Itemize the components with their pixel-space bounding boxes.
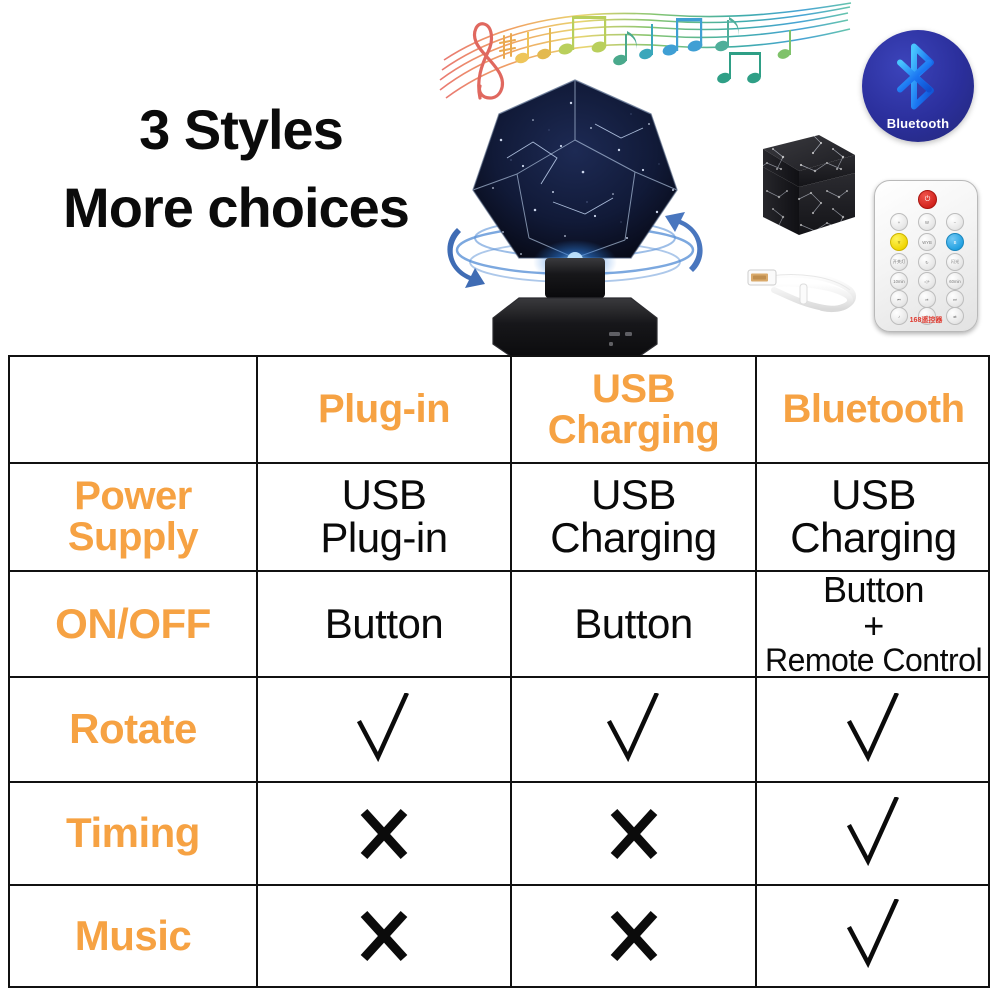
remote-button-timer-60[interactable]: 60min [946,272,964,290]
check-icon [846,797,902,871]
remote-button-w[interactable]: W [918,213,936,231]
cross-icon [606,908,662,964]
bluetooth-icon [890,43,946,116]
cell-power-usb-line2: Charging [550,517,716,560]
remote-control-icon: ⏻ + W − Y WYB B 开关灯 ↻ 闪光 10min ◁+ 60min … [874,180,978,332]
table-row-label-music: Music [10,886,258,986]
cell-power-bt-line1: USB [831,474,916,517]
cell-power-bt-line2: Charging [790,517,956,560]
remote-button-plus[interactable]: + [890,213,908,231]
remote-button-lamp-toggle[interactable]: 开关灯 [890,253,908,271]
remote-button-rotate[interactable]: ↻ [918,253,936,271]
check-icon [356,693,412,767]
table-header-usb-charging: USB Charging [512,357,757,464]
remote-button-minus[interactable]: − [946,213,964,231]
check-icon [846,693,902,767]
usb-cable-icon [740,250,870,330]
table-row-label-rotate: Rotate [10,678,258,783]
remote-button-timer-10[interactable]: 10min [890,272,908,290]
table-row-label-timing: Timing [10,783,258,886]
table-row-label-on-off: ON/OFF [10,572,258,678]
row-label-music: Music [75,915,192,958]
headline-line-1: 3 Styles [26,102,446,158]
remote-model-label: 168遥控器 [874,315,978,325]
table-header-usb-charging-line1: USB [592,369,675,410]
row-label-supply: Supply [68,517,198,558]
table-row: Button [258,572,512,678]
cross-icon [356,908,412,964]
table-row [757,886,990,986]
remote-button-vol-up[interactable]: ◁+ [918,272,936,290]
table-header-plug-in: Plug-in [258,357,512,464]
table-row [512,886,757,986]
headline-block: 3 Styles More choices [26,102,446,236]
table-row [757,678,990,783]
table-row-label-power-supply: Power Supply [10,464,258,572]
remote-button-b[interactable]: B [946,233,964,251]
row-label-power: Power [74,476,192,517]
bluetooth-badge: Bluetooth [862,30,974,142]
cell-onoff-bt-line2: + [863,608,884,644]
table-row [258,886,512,986]
cell-onoff-plugin: Button [325,603,443,646]
table-row: USB Plug-in [258,464,512,572]
row-label-onoff: ON/OFF [55,603,211,646]
table-row: USB Charging [512,464,757,572]
table-row [512,783,757,886]
cell-onoff-usb: Button [574,603,692,646]
check-icon [846,899,902,973]
cell-power-plugin-line1: USB [342,474,427,517]
bluetooth-badge-label: Bluetooth [862,116,974,131]
table-row [757,783,990,886]
cell-onoff-bt-line1: Button [823,572,924,608]
cell-power-plugin-line2: Plug-in [320,517,447,560]
remote-button-play-pause[interactable]: ⏯ [918,290,936,308]
star-projector-icon [445,62,705,362]
remote-power-button[interactable]: ⏻ [918,190,937,209]
table-header-usb-charging-line2: Charging [548,410,720,451]
comparison-table: Plug-in USB Charging Bluetooth Power Sup… [8,355,990,988]
cell-onoff-bt-line3: Remote Control [765,644,982,677]
check-icon [606,693,662,767]
remote-button-next[interactable]: ⏭ [946,290,964,308]
remote-button-flash[interactable]: 闪光 [946,253,964,271]
table-row [258,783,512,886]
infographic-canvas: 3 Styles More choices [0,0,1000,1000]
table-header-plug-in-label: Plug-in [318,389,450,430]
cross-icon [356,806,412,862]
table-corner-cell [10,357,258,464]
table-row: Button + Remote Control [757,572,990,678]
table-row: Button [512,572,757,678]
cross-icon [606,806,662,862]
cell-power-usb-line1: USB [591,474,676,517]
table-header-bluetooth: Bluetooth [757,357,990,464]
table-row: USB Charging [757,464,990,572]
row-label-rotate: Rotate [69,708,197,751]
remote-button-prev[interactable]: ⏮ [890,290,908,308]
gift-box-icon [733,125,863,245]
remote-button-y[interactable]: Y [890,233,908,251]
headline-line-2: More choices [26,180,446,236]
table-header-bluetooth-label: Bluetooth [782,389,964,430]
table-row [512,678,757,783]
row-label-timing: Timing [66,812,200,855]
table-row [258,678,512,783]
remote-button-wyb[interactable]: WYB [918,233,936,251]
